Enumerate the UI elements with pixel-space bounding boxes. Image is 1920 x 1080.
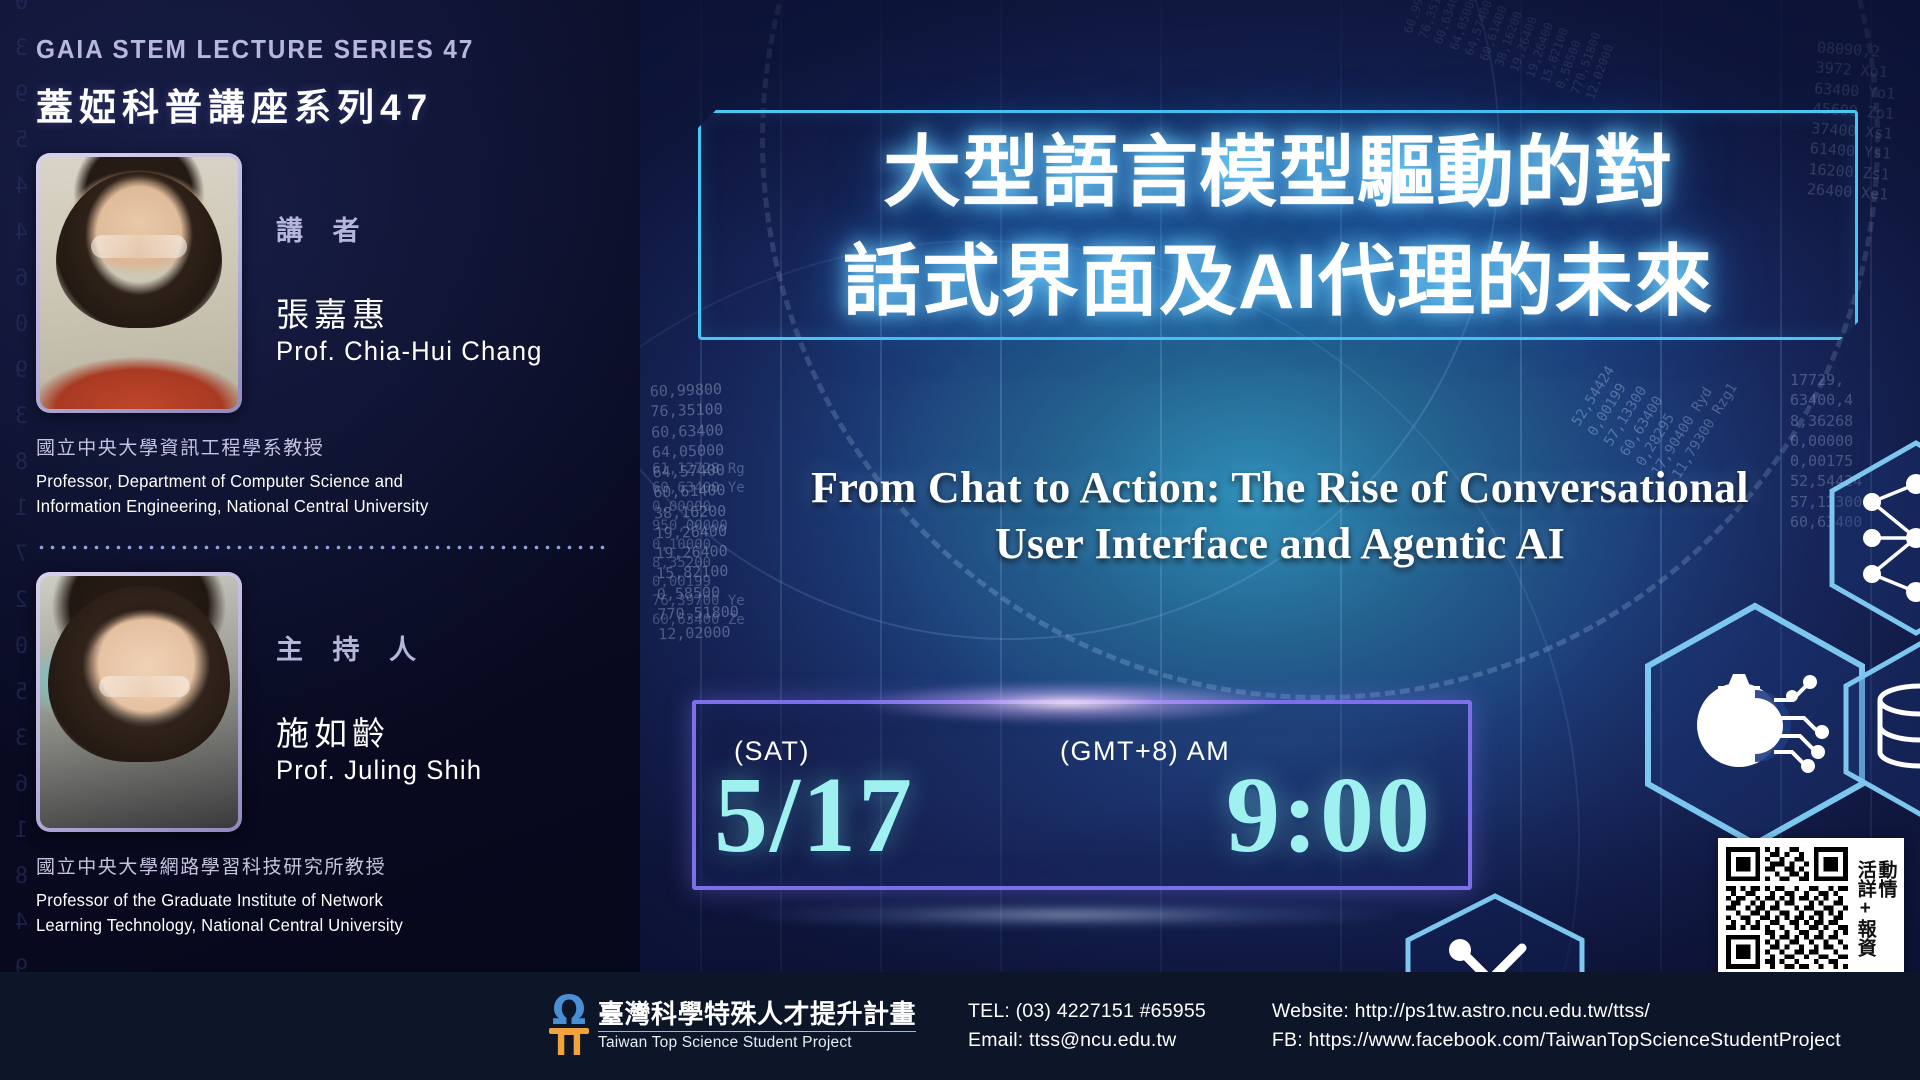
website-link[interactable]: Website: http://ps1tw.astro.ncu.edu.tw/t… [1272,997,1841,1026]
qr-caption: 活詳+報資 動情 [1855,860,1896,957]
host-affiliation-english-line2: Learning Technology, National Central Un… [36,913,578,938]
project-name-english: Taiwan Top Science Student Project [598,1035,916,1051]
talk-title-english-line2: User Interface and Agentic AI [700,516,1860,572]
speaker-affiliation-english-line2: Information Engineering, National Centra… [36,494,578,519]
facebook-link[interactable]: FB: https://www.facebook.com/TaiwanTopSc… [1272,1026,1841,1055]
schedule-date: 5/17 [714,756,914,877]
footer-bar: Ω Π 臺灣科學特殊人才提升計畫 Taiwan Top Science Stud… [0,972,1920,1080]
neural-network-hex-icon [1826,438,1920,638]
talk-title-chinese-line1: 大型語言模型驅動的對 [698,118,1858,227]
speaker-name-english: Prof. Chia-Hui Chang [276,336,543,367]
host-name-chinese: 施如齡 [276,715,493,753]
talk-title-english: From Chat to Action: The Rise of Convers… [700,460,1860,573]
schedule-time: 9:00 [1226,756,1432,877]
registration-qr-panel[interactable]: 活詳+報資 動情 [1718,838,1904,978]
database-hex-icon [1840,640,1920,820]
talk-title-chinese: 大型語言模型驅動的對 話式界面及AI代理的未來 [698,118,1858,336]
talk-title-chinese-line2: 話式界面及AI代理的未來 [698,227,1858,336]
project-logo: Ω Π 臺灣科學特殊人才提升計畫 Taiwan Top Science Stud… [548,994,916,1058]
speaker-name-chinese: 張嘉惠 [276,296,557,334]
host-role-label: 主 持 人 [276,628,493,667]
schedule-box-glow [860,682,1280,724]
online-links: Website: http://ps1tw.astro.ncu.edu.tw/t… [1272,997,1841,1056]
series-title-chinese: 蓋婭科普講座系列47 [36,77,606,131]
speaker-photo-frame [36,153,242,413]
lecture-poster: 0 3 9 5 4 4 6 0 9 3 8 1 7 2 0 5 3 6 1 8 … [0,0,1920,1080]
host-affiliation-chinese: 國立中央大學網路學習科技研究所教授 [36,852,606,879]
speaker-affiliation-chinese: 國立中央大學資訊工程學系教授 [36,433,606,460]
host-portrait [40,576,238,828]
pi-glyph: Π [548,1030,590,1058]
schedule-datetime: 5/17 9:00 [714,756,1454,877]
host-block: 主 持 人 施如齡 Prof. Juling Shih [36,572,606,832]
contact-tel: TEL: (03) 4227151 #65955 [968,997,1206,1026]
host-affiliation-english: Professor of the Graduate Institute of N… [36,888,578,938]
qr-caption-col-left: 動情 [1876,860,1896,957]
qr-caption-col-right: 活詳+報資 [1855,860,1875,957]
project-name-chinese: 臺灣科學特殊人才提升計畫 [598,1001,916,1028]
host-affiliation-english-line1: Professor of the Graduate Institute of N… [36,888,578,913]
contact-email[interactable]: Email: ttss@ncu.edu.tw [968,1026,1206,1055]
omega-pi-logo-icon: Ω Π [548,994,590,1058]
speaker-affiliation-english: Professor, Department of Computer Scienc… [36,469,578,519]
talk-title-english-line1: From Chat to Action: The Rise of Convers… [700,460,1860,516]
series-title-english: GAIA STEM LECTURE SERIES 47 [36,34,572,65]
logo-rule [598,1031,916,1032]
section-divider [36,545,606,550]
speaker-block: 講 者 張嘉惠 Prof. Chia-Hui Chang [36,153,606,413]
contact-info: TEL: (03) 4227151 #65955 Email: ttss@ncu… [968,997,1206,1056]
speaker-portrait [40,157,238,409]
main-visual-panel: 60,99800 76,35100 60,63400 64,05000 64,5… [640,0,1920,1080]
qr-code[interactable] [1726,847,1848,969]
host-photo-frame [36,572,242,832]
schedule-box-underglow [740,902,1400,928]
speakers-panel: 0 3 9 5 4 4 6 0 9 3 8 1 7 2 0 5 3 6 1 8 … [0,0,640,1080]
speaker-affiliation-english-line1: Professor, Department of Computer Scienc… [36,469,578,494]
speaker-role-label: 講 者 [276,209,557,248]
host-name-english: Prof. Juling Shih [276,755,482,786]
